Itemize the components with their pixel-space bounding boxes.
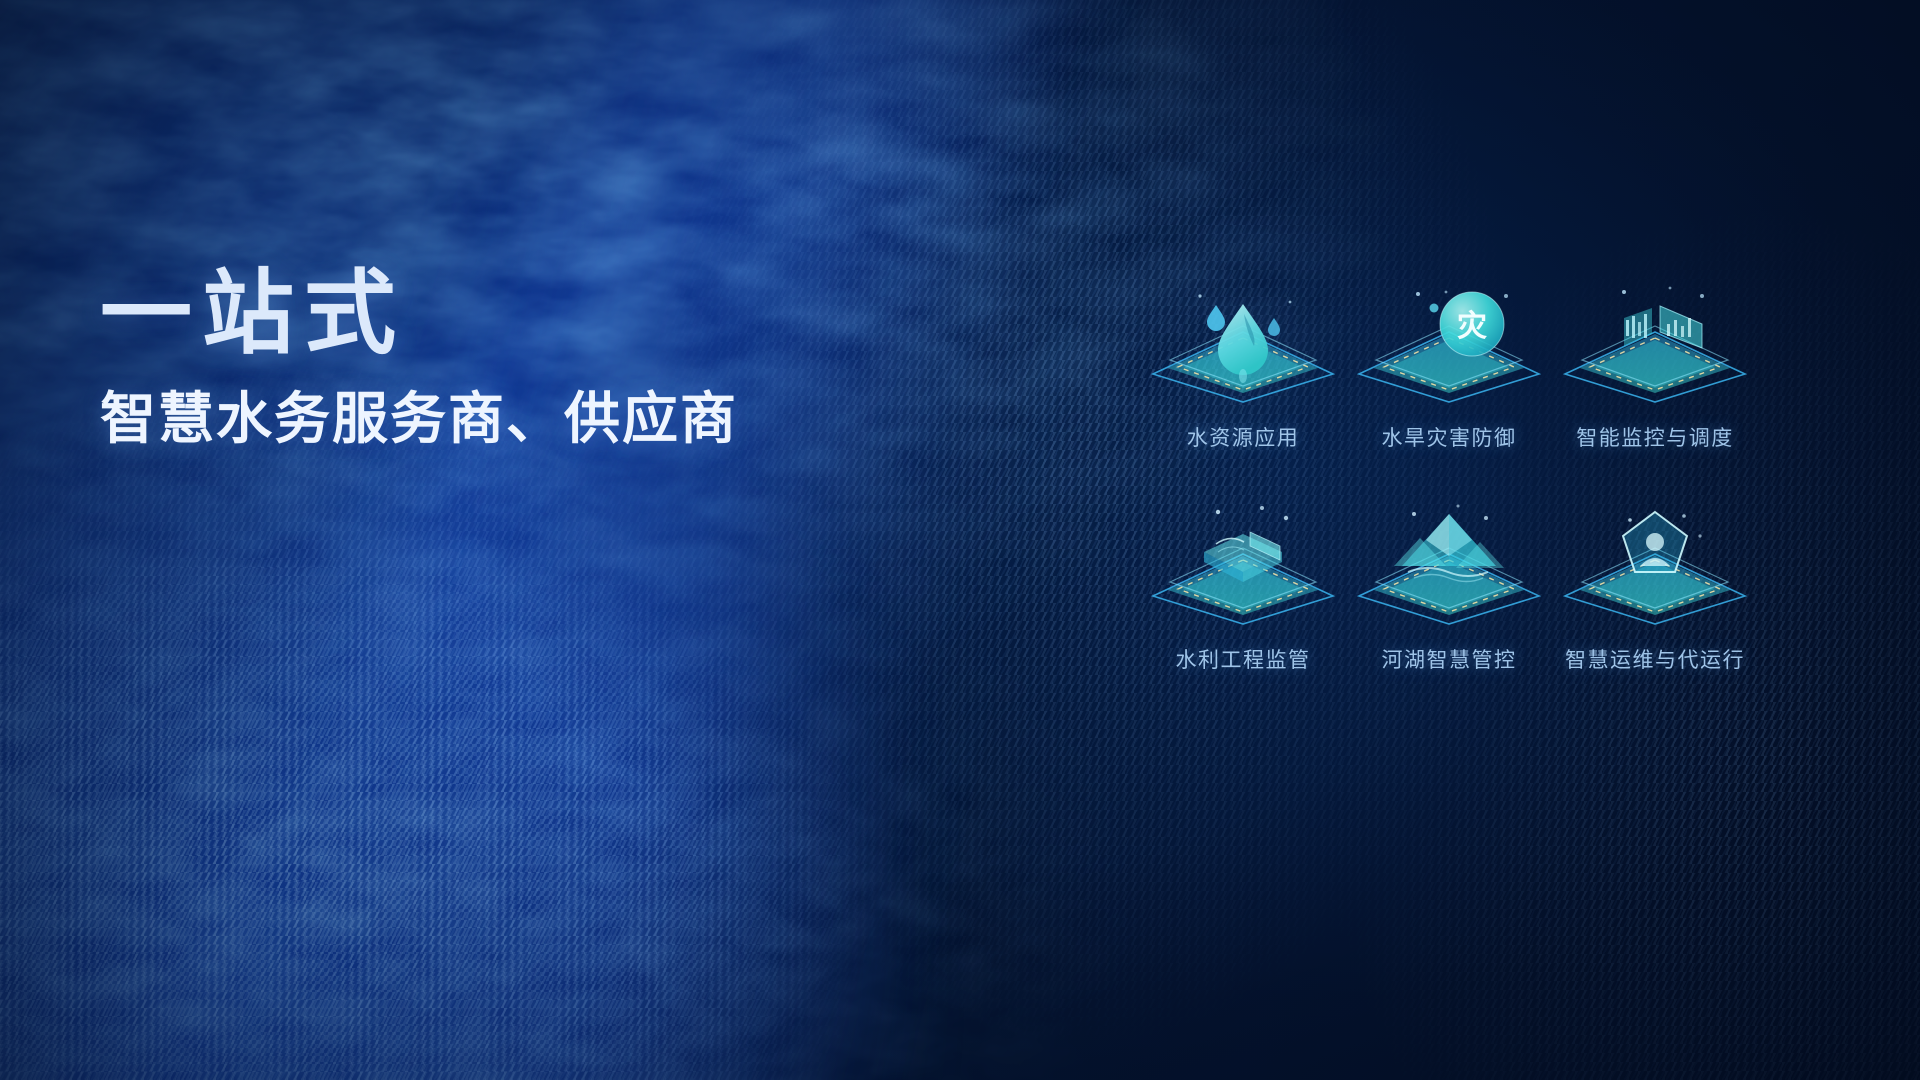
mountain-river-icon [1346,498,1552,630]
capability-item-river-lake[interactable]: 河湖智慧管控 [1346,498,1552,674]
capability-label: 智慧运维与代运行 [1565,644,1745,674]
water-drop-icon [1140,276,1346,408]
dam-facility-icon [1140,498,1346,630]
slide-canvas: 一站式 智慧水务服务商、供应商 [0,0,1920,1080]
page-title: 一站式 [100,268,860,360]
shield-ops-icon [1552,498,1758,630]
capability-label: 水旱灾害防御 [1382,422,1517,452]
diagonal-light-band-secondary [197,0,1163,1080]
capability-item-flood-drought[interactable]: 灾 水旱灾害防御 [1346,276,1552,452]
disaster-glyph: 灾 [1457,309,1487,343]
capability-item-water-resource[interactable]: 水资源应用 [1140,276,1346,452]
diagonal-light-band [0,0,1298,1080]
capability-label: 水资源应用 [1187,422,1300,452]
disaster-sphere-icon: 灾 [1346,276,1552,408]
capability-label: 水利工程监管 [1176,644,1311,674]
headline-block: 一站式 智慧水务服务商、供应商 [100,268,860,451]
capability-label: 智能监控与调度 [1576,422,1734,452]
capability-item-smart-monitoring[interactable]: 智能监控与调度 [1552,276,1758,452]
capability-item-project-supervision[interactable]: 水利工程监管 [1140,498,1346,674]
halftone-mesh-dense [0,560,980,1080]
capability-label: 河湖智慧管控 [1382,644,1517,674]
monitor-screen-icon [1552,276,1758,408]
capability-item-smart-ops[interactable]: 智慧运维与代运行 [1552,498,1758,674]
page-subtitle: 智慧水务服务商、供应商 [100,388,860,451]
capability-grid: 水资源应用 [1140,276,1760,674]
